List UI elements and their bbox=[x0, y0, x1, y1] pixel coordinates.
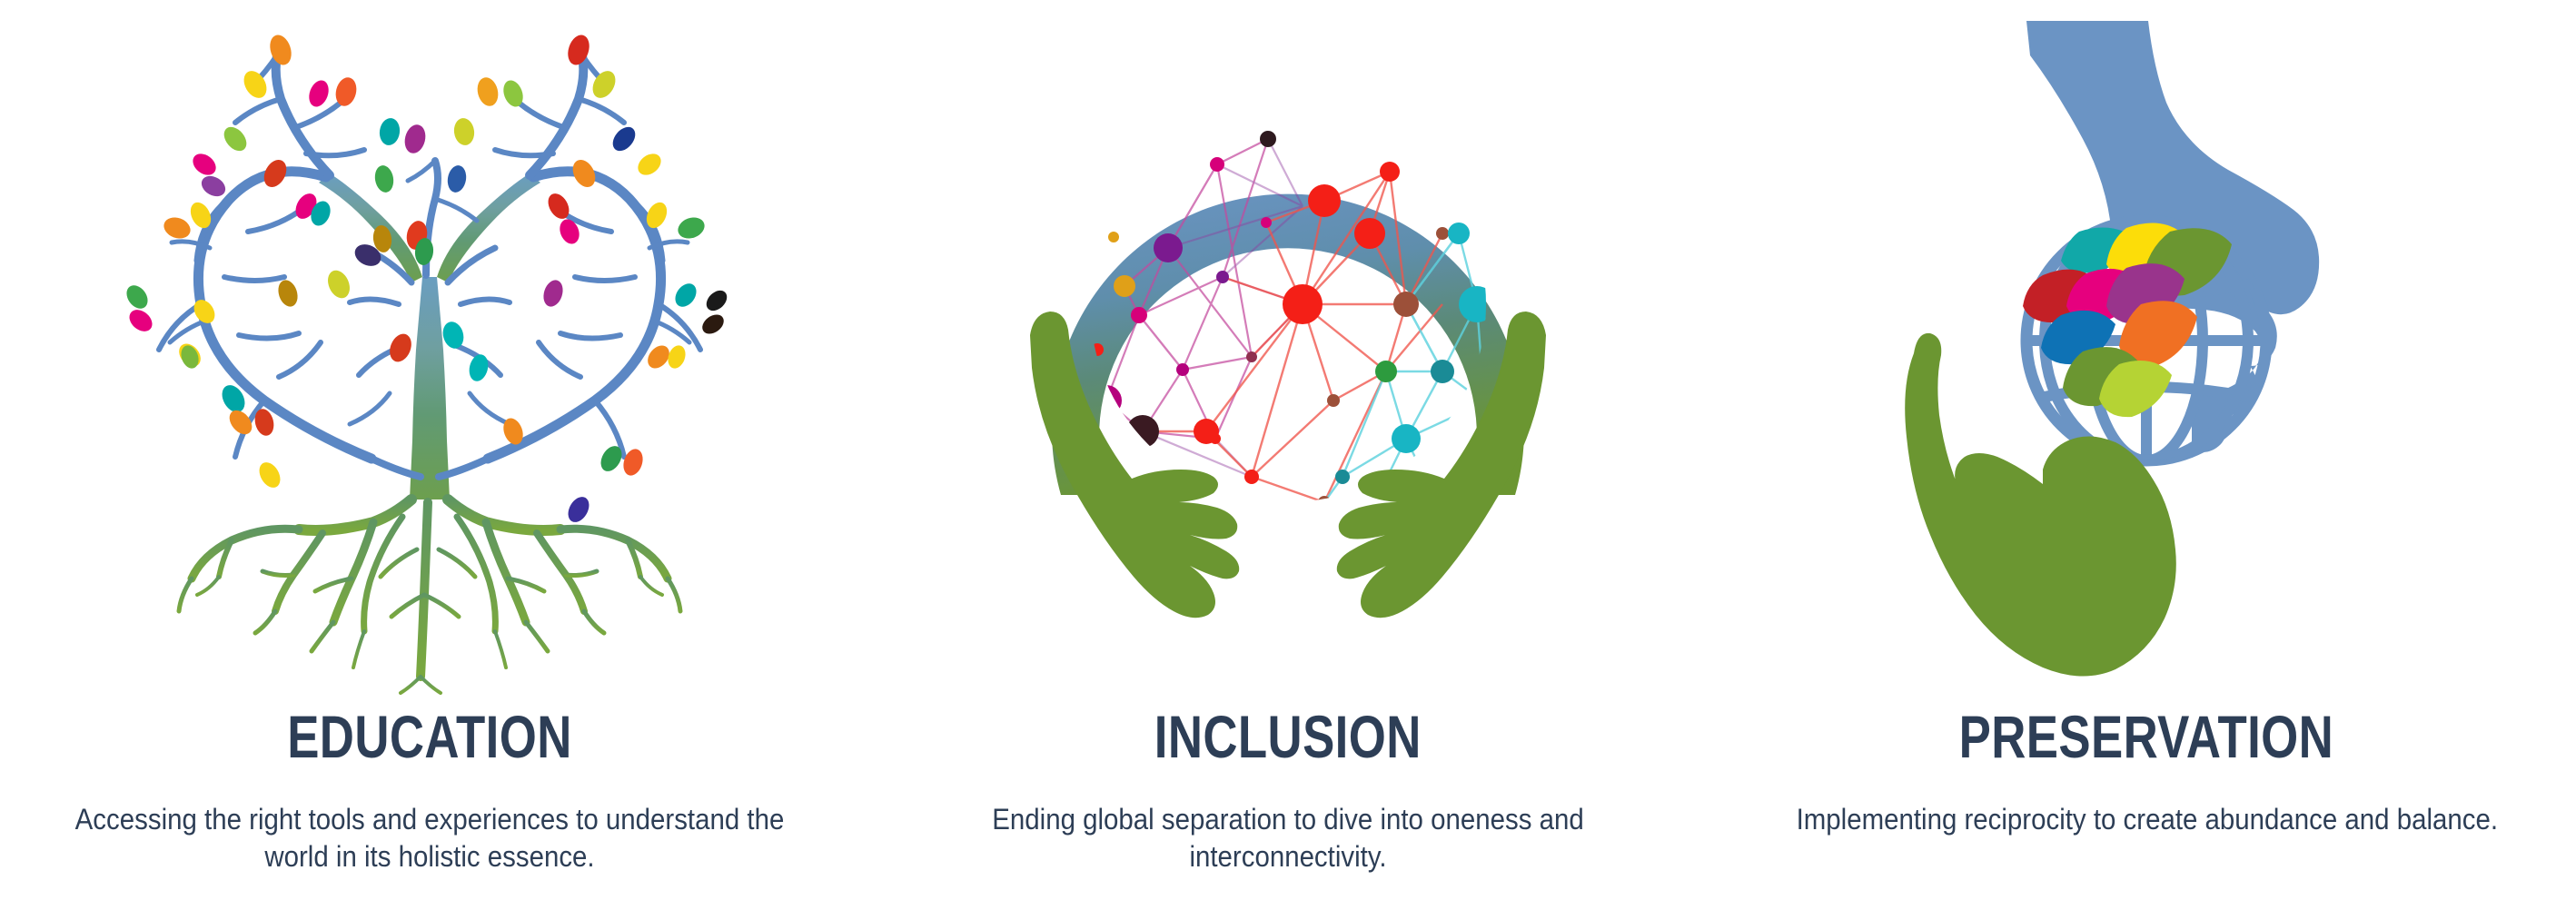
left-hand bbox=[1030, 312, 1239, 618]
two-hands-cradling-leafy-globe-icon bbox=[1865, 5, 2428, 695]
preservation-illustration bbox=[1718, 0, 2576, 699]
pillar-title: INCLUSION bbox=[1154, 707, 1422, 767]
inclusion-illustration bbox=[858, 0, 1717, 699]
pillar-title: PRESERVATION bbox=[1959, 707, 2334, 767]
tree-roots bbox=[179, 500, 680, 693]
pillar-description: Implementing reciprocity to create abund… bbox=[1796, 801, 2497, 838]
pillar-card-education: EDUCATION Accessing the right tools and … bbox=[0, 0, 858, 910]
pillar-description: Ending global separation to dive into on… bbox=[928, 801, 1647, 875]
trunk-fork-left bbox=[319, 173, 422, 282]
three-pillar-graphic: EDUCATION Accessing the right tools and … bbox=[0, 0, 2576, 910]
pillar-title: EDUCATION bbox=[287, 707, 572, 767]
pillar-card-inclusion: INCLUSION Ending global separation to di… bbox=[858, 0, 1717, 910]
tree-trunk bbox=[410, 277, 450, 500]
pillar-card-preservation: PRESERVATION Implementing reciprocity to… bbox=[1718, 0, 2576, 910]
hands-holding-network-globe-icon bbox=[979, 5, 1597, 695]
education-illustration bbox=[0, 0, 858, 699]
pillar-description: Accessing the right tools and experience… bbox=[70, 801, 788, 875]
heart-shaped-tree-with-roots-icon bbox=[103, 5, 757, 695]
